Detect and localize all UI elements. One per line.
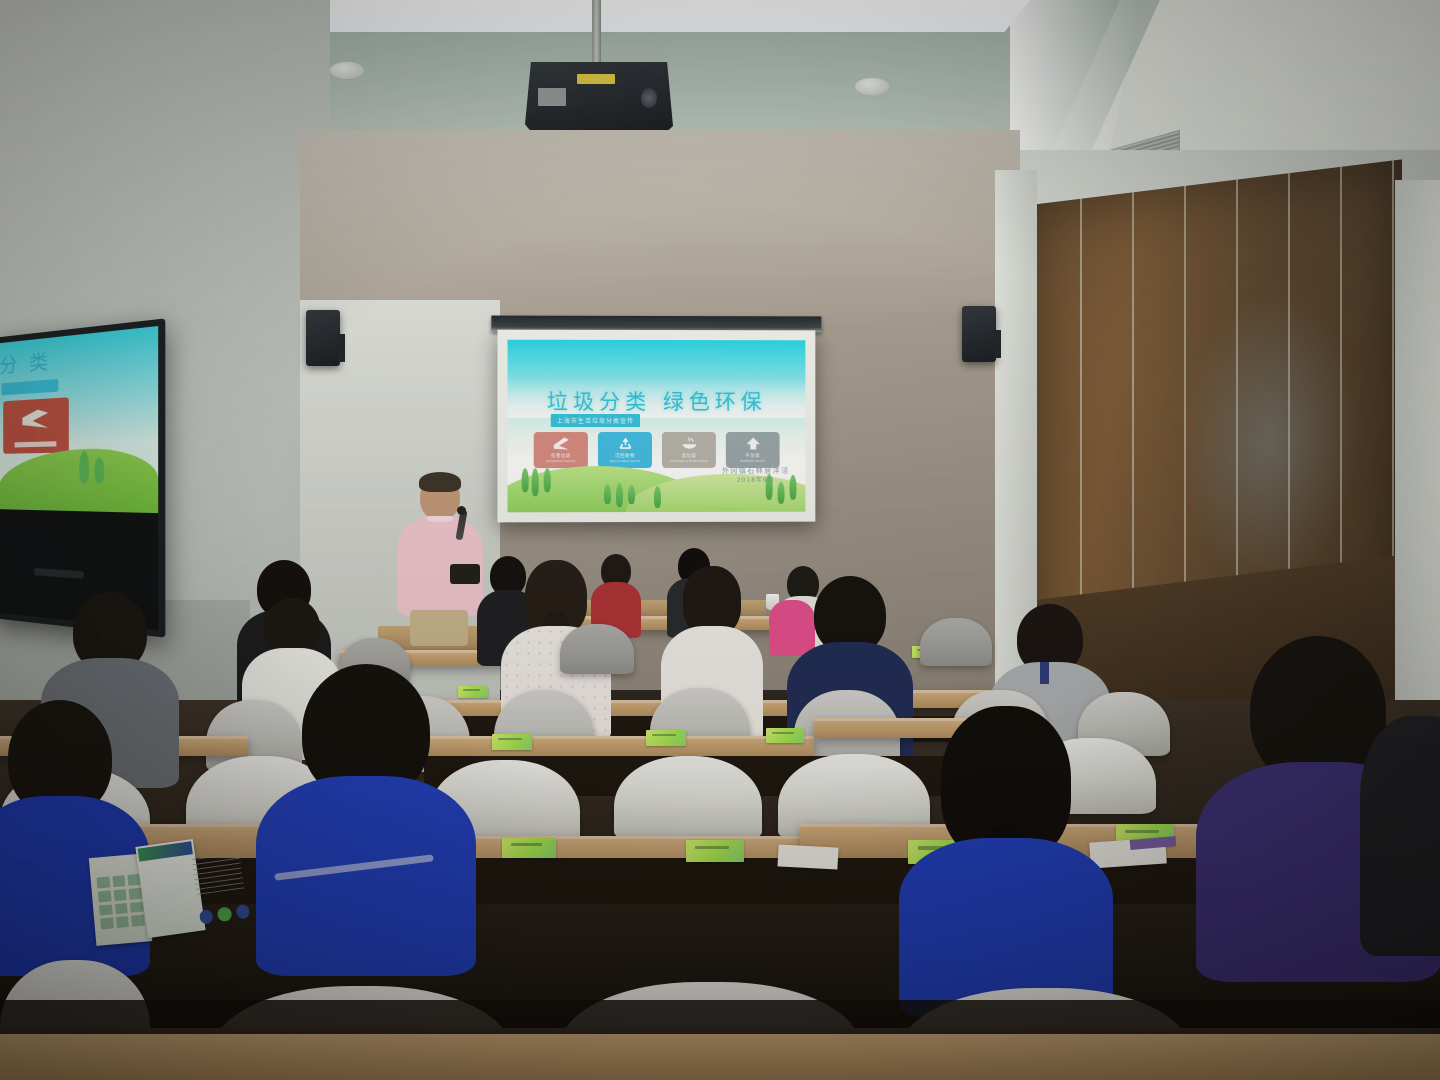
conference-room-photo: 分 类 垃圾分类 绿色环保 上海市生活垃圾分类宣传	[0, 0, 1440, 1080]
brochure-icon	[131, 915, 145, 927]
hazardous-waste-icon	[22, 409, 48, 429]
brochure-icon	[113, 889, 127, 901]
brochure-icon	[115, 903, 129, 915]
handout	[686, 840, 744, 862]
attendee-light-right	[1360, 716, 1440, 986]
tree-icon-6	[628, 485, 635, 504]
wood-wall-reflection	[1180, 279, 1360, 601]
tree-icon-2	[532, 468, 539, 496]
ceiling-speaker-left	[330, 62, 364, 79]
projector-side-panel	[538, 88, 566, 106]
handout	[766, 728, 804, 743]
slide-footer-org: 外冈镇石林居洋泾	[722, 466, 790, 476]
tree-icon-3	[544, 468, 551, 492]
food-waste-icon	[679, 436, 698, 451]
brochure-badge-blue-2	[235, 904, 250, 920]
wall-speaker-left-icon	[306, 310, 340, 366]
presenter	[392, 474, 488, 644]
tv-hazardous-card	[3, 397, 69, 453]
handout	[502, 838, 556, 858]
recycle-icon	[615, 436, 634, 451]
projector-badge	[577, 74, 615, 84]
brochure-icon	[112, 875, 126, 887]
slide-title: 垃圾分类 绿色环保	[508, 386, 806, 416]
tv-slide-title: 分 类	[0, 346, 51, 378]
chair	[560, 624, 634, 674]
screen-canvas: 垃圾分类 绿色环保 上海市生活垃圾分类宣传 有害垃圾 HAZARDOUS WAS…	[497, 330, 815, 523]
microphone-head-icon	[457, 506, 466, 515]
attendee-blue-polo-front	[256, 664, 476, 964]
waste-card-label-cn: 湿垃圾	[681, 453, 696, 459]
table-foreground	[0, 1028, 1440, 1080]
lanyard-icon	[1040, 662, 1049, 684]
tree-icon-1	[522, 468, 529, 492]
waste-card-label-cn: 有害垃圾	[551, 453, 571, 459]
projection-screen: 垃圾分类 绿色环保 上海市生活垃圾分类宣传 有害垃圾 HAZARDOUS WAS…	[491, 316, 821, 529]
projector-mount	[592, 0, 601, 64]
table-row3	[424, 736, 814, 758]
waste-card-label-cn: 干垃圾	[745, 453, 760, 459]
tree-icon-10	[790, 475, 797, 500]
brochure-icon	[97, 877, 111, 889]
brochure-icon	[100, 918, 114, 930]
tv-brand-logo	[34, 568, 83, 579]
brochure-icon	[130, 901, 144, 913]
presenter-trousers	[410, 610, 468, 646]
projector-lens-icon	[641, 88, 657, 108]
attendee-hand	[546, 696, 594, 736]
tv-tree-icon-2	[94, 457, 104, 483]
handout	[492, 734, 532, 750]
slide-footer: 外冈镇石林居洋泾 2018年9月	[722, 466, 790, 486]
brochure-badge-blue	[199, 909, 214, 925]
attendee-blue-ponytail	[898, 706, 1114, 1006]
tree-icon-7	[654, 486, 661, 508]
tree-icon-4	[604, 484, 611, 504]
presentation-slide: 垃圾分类 绿色环保 上海市生活垃圾分类宣传 有害垃圾 HAZARDOUS WAS…	[508, 340, 806, 513]
speaker-bracket-left	[338, 334, 345, 362]
hazardous-waste-icon	[551, 436, 570, 451]
residual-waste-icon	[743, 436, 762, 451]
brochure-text-lines	[192, 853, 245, 899]
chair	[614, 756, 762, 840]
brochure-icon-grid	[97, 874, 145, 930]
presenter-hair	[419, 472, 461, 492]
tv-screen: 分 类	[0, 326, 158, 513]
tree-icon-5	[616, 483, 623, 507]
ceiling-light-panel-1	[215, 0, 1055, 32]
slide-footer-date: 2018年9月	[722, 476, 790, 486]
presenter-collar	[427, 516, 453, 522]
brochure-icon	[98, 890, 112, 902]
torso	[1360, 716, 1440, 956]
tv-card-label	[15, 441, 57, 447]
chair	[920, 618, 992, 666]
slide-subtitle: 上海市生活垃圾分类宣传	[551, 414, 640, 427]
tv-grass-hill	[0, 447, 158, 513]
brochure	[86, 839, 206, 949]
ceiling-speaker-right	[855, 78, 889, 95]
tv-tree-icon-1	[79, 451, 89, 483]
paper-sheet	[777, 844, 838, 869]
wall-mounted-tv[interactable]: 分 类	[0, 318, 165, 637]
foreground-shadow	[0, 1000, 1440, 1034]
speaker-bracket-right	[994, 330, 1001, 358]
waste-card-label-cn: 可回收物	[615, 453, 635, 459]
brochure-icon	[99, 904, 113, 916]
wall-speaker-right-icon	[962, 306, 996, 362]
brochure-icon	[116, 916, 130, 928]
handout	[646, 730, 686, 746]
tv-slide-ribbon	[1, 379, 58, 395]
brochure-badge-green	[217, 906, 232, 922]
